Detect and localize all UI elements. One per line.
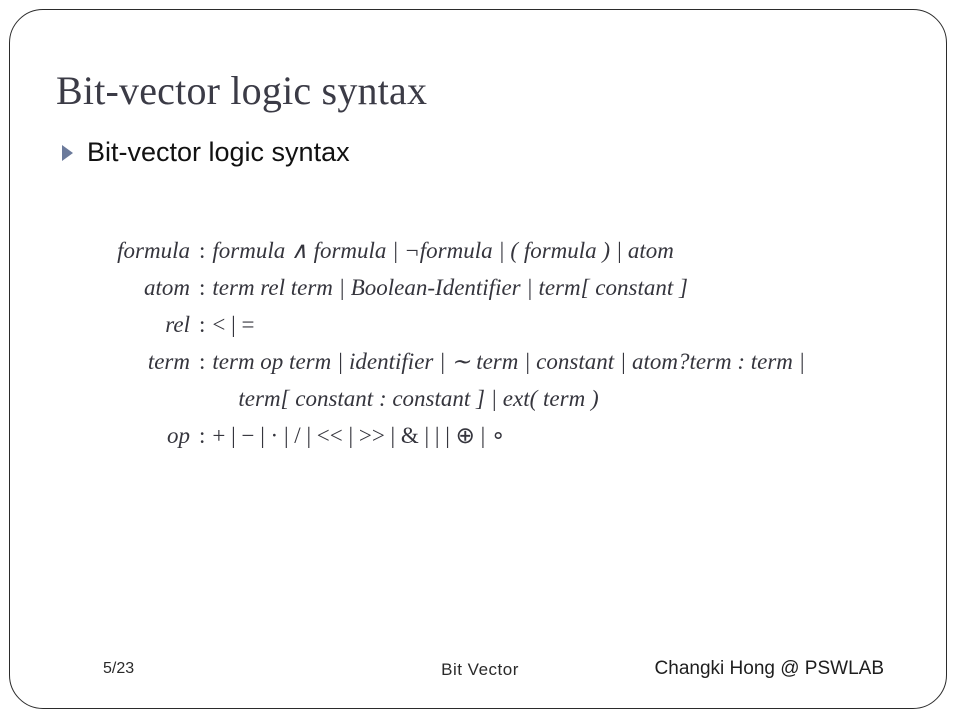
grammar-nonterminal: op <box>104 417 199 454</box>
grammar-line-atom: atom : term rel term | Boolean-Identifie… <box>104 269 805 306</box>
grammar-production: term rel term | Boolean-Identifier | ter… <box>212 269 805 306</box>
page-title: Bit-vector logic syntax <box>56 68 427 114</box>
grammar-colon: : <box>199 269 212 306</box>
grammar-nonterminal: term <box>104 343 199 380</box>
grammar-nonterminal: atom <box>104 269 199 306</box>
grammar-line-term: term : term op term | identifier | ∼ ter… <box>104 343 805 380</box>
grammar-colon: : <box>199 343 212 380</box>
grammar-colon: : <box>199 417 212 454</box>
grammar-line-op: op : + | − | · | / | << | >> | & | | | ⊕… <box>104 417 805 454</box>
footer-author-label: Changki Hong @ PSWLAB <box>655 658 884 680</box>
presentation-slide: Bit-vector logic syntax Bit-vector logic… <box>0 0 960 720</box>
grammar-production: < | = <box>212 306 805 343</box>
bullet-item-label: Bit-vector logic syntax <box>87 136 350 168</box>
bullet-item: Bit-vector logic syntax <box>62 136 350 168</box>
grammar-production: formula ∧ formula | ¬formula | ( formula… <box>212 232 805 269</box>
grammar-production: term[ constant : constant ] | ext( term … <box>212 380 805 417</box>
grammar-line-rel: rel : < | = <box>104 306 805 343</box>
grammar-colon: : <box>199 306 212 343</box>
grammar-line-term-continued: term : term[ constant : constant ] | ext… <box>104 380 805 417</box>
grammar-nonterminal: rel <box>104 306 199 343</box>
triangle-right-bullet-icon <box>62 145 73 161</box>
grammar-production: term op term | identifier | ∼ term | con… <box>212 343 805 380</box>
grammar-colon: : <box>199 232 212 269</box>
slide-footer: 5/23 Bit Vector Changki Hong @ PSWLAB <box>0 660 960 686</box>
grammar-line-formula: formula : formula ∧ formula | ¬formula |… <box>104 232 805 269</box>
grammar-production: + | − | · | / | << | >> | & | | | ⊕ | ∘ <box>212 417 805 454</box>
grammar-block: formula : formula ∧ formula | ¬formula |… <box>104 232 805 454</box>
grammar-nonterminal: formula <box>104 232 199 269</box>
